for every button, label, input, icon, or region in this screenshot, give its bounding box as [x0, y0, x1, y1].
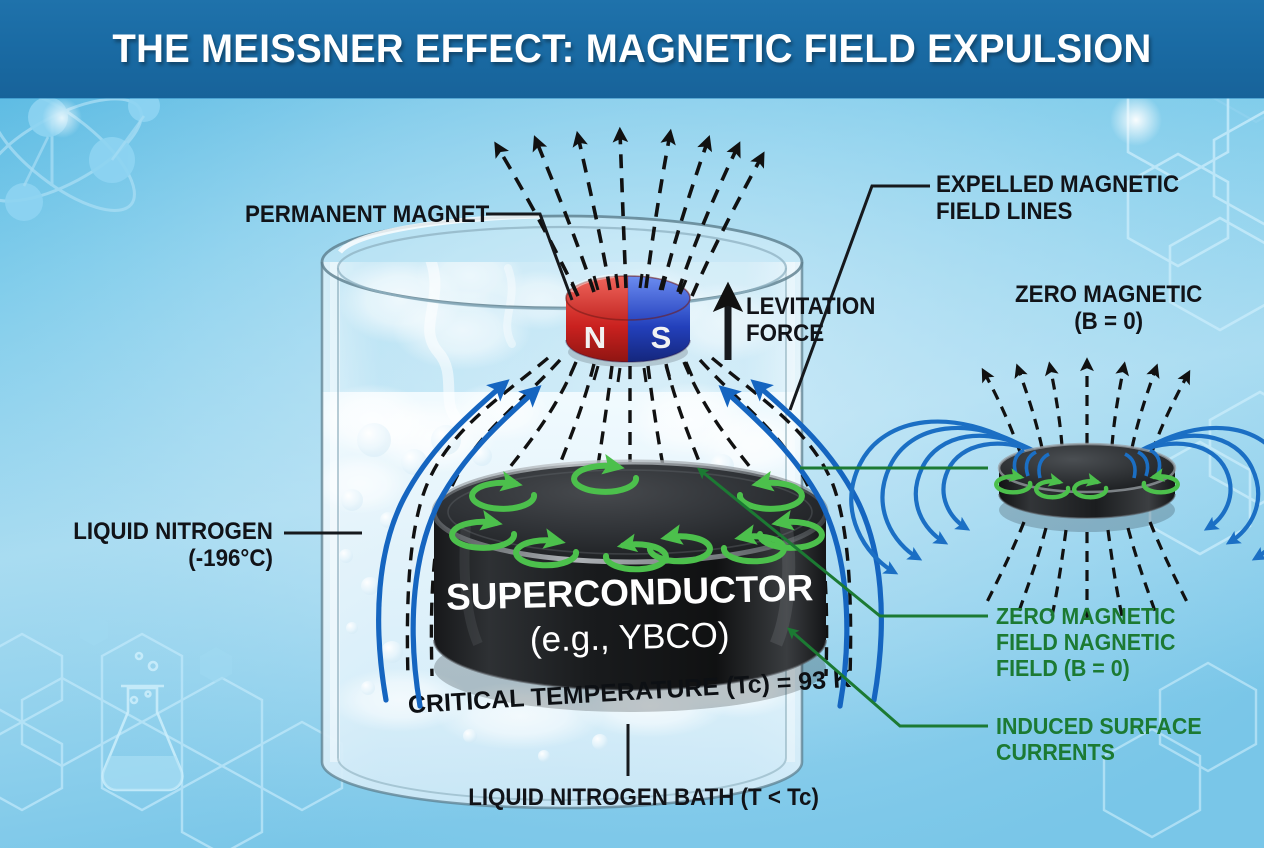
inset-field-lines-upper	[984, 362, 1188, 452]
green-paren-open: FIELD (	[996, 655, 1071, 681]
inset-superconductor	[851, 362, 1264, 620]
label-expelled-field-lines-line1: EXPELLED MAGNETIC	[936, 172, 1179, 199]
label-levitation-force-line1: LEVITATION	[746, 294, 875, 321]
label-zero-magnetic-inset: ZERO MAGNETIC (B = 0)	[1015, 282, 1202, 336]
label-liquid-nitrogen-bath: LIQUID NITROGEN BATH (T < Tc)	[468, 785, 819, 812]
label-expelled-field-lines-line2: FIELD LINES	[936, 199, 1179, 226]
label-permanent-magnet: PERMANENT MAGNET	[245, 202, 489, 229]
label-liquid-nitrogen-line2: (-196°C)	[72, 546, 273, 573]
label-levitation-force: LEVITATION FORCE	[746, 294, 875, 348]
green-b-symbol: B	[1071, 655, 1086, 681]
magnet-pole-south-label: S	[651, 320, 672, 355]
label-zero-field-green-line1: ZERO MAGNETIC	[996, 604, 1175, 630]
label-zero-field-green-line2: FIELD NAGNETIC	[996, 630, 1175, 656]
label-induced-currents-line1: INDUCED SURFACE	[996, 714, 1202, 740]
diagram-canvas: SUPERCONDUCTOR (e.g., YBCO) CRITICAL TEM…	[0, 0, 1264, 848]
label-zero-magnetic-inset-line1: ZERO MAGNETIC	[1015, 282, 1202, 309]
superconductor-label-line2: (e.g., YBCO)	[529, 615, 730, 659]
header-bar: THE MEISSNER EFFECT: MAGNETIC FIELD EXPU…	[0, 0, 1264, 98]
label-zero-magnetic-field-green: ZERO MAGNETIC FIELD NAGNETIC FIELD (B = …	[996, 604, 1175, 681]
equals-zero: = 0)	[1098, 308, 1143, 335]
magnet-pole-north-label: N	[584, 320, 606, 355]
label-expelled-field-lines: EXPELLED MAGNETIC FIELD LINES	[936, 172, 1179, 226]
green-equals-zero: = 0)	[1086, 655, 1129, 681]
label-liquid-nitrogen-line1: LIQUID NITROGEN	[72, 519, 273, 546]
label-zero-field-green-line3: FIELD (B = 0)	[996, 656, 1175, 682]
paren-open: (	[1074, 308, 1081, 335]
label-induced-currents-line2: CURRENTS	[996, 740, 1202, 766]
label-zero-magnetic-inset-line2: (B = 0)	[1015, 309, 1202, 336]
permanent-magnet: N S	[566, 276, 690, 367]
label-induced-surface-currents: INDUCED SURFACE CURRENTS	[996, 714, 1202, 766]
label-levitation-force-line2: FORCE	[746, 321, 875, 348]
b-symbol: B	[1082, 308, 1098, 335]
label-liquid-nitrogen: LIQUID NITROGEN (-196°C)	[72, 519, 273, 573]
page-title: THE MEISSNER EFFECT: MAGNETIC FIELD EXPU…	[25, 0, 1238, 98]
